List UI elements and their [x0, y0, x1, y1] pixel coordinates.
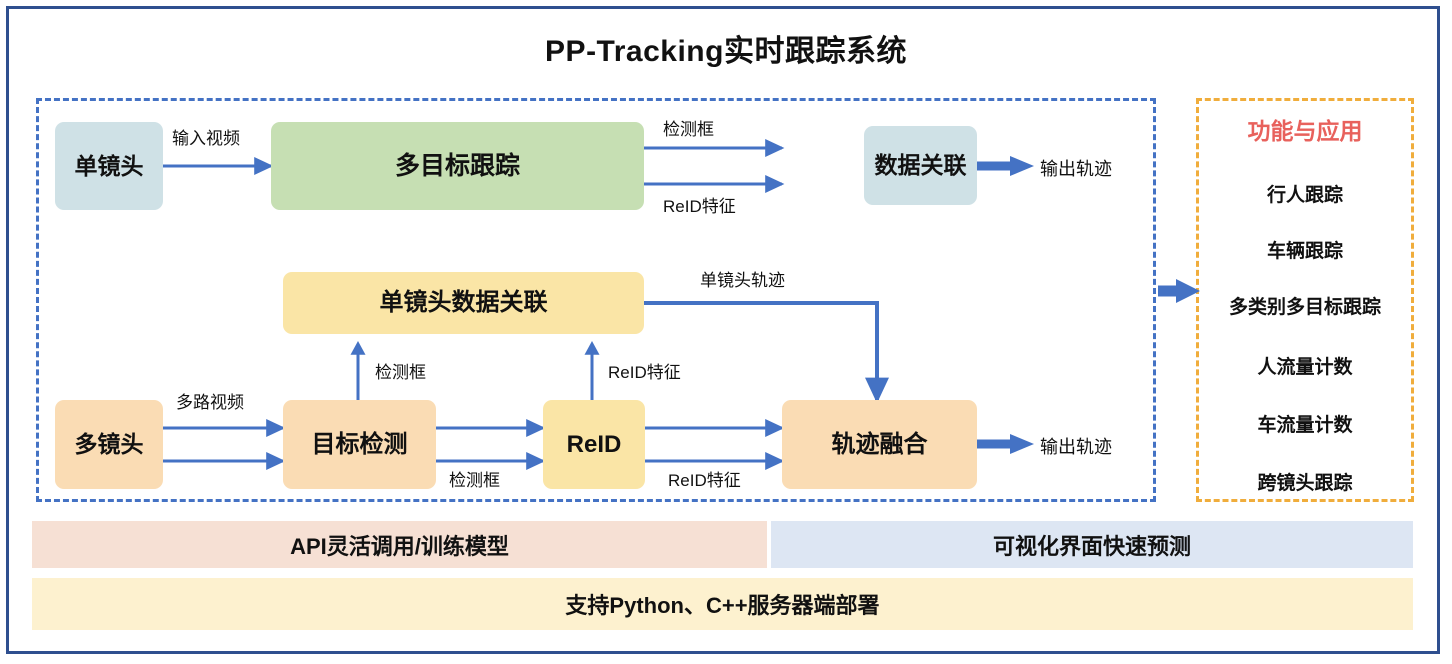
node-object-detection[interactable]: 目标检测 [283, 400, 436, 489]
application-item-1[interactable]: 车辆跟踪 [1196, 236, 1414, 263]
footer-bar-deployment-label: 支持Python、C++服务器端部署 [565, 588, 879, 620]
node-data-association-label: 数据关联 [875, 152, 967, 178]
node-mot-label: 多目标跟踪 [395, 152, 520, 181]
footer-bar-api-label: API灵活调用/训练模型 [290, 529, 509, 561]
node-single-camera-association[interactable]: 单镜头数据关联 [283, 272, 644, 334]
label-detbox-mid: 检测框 [375, 358, 426, 383]
node-mot[interactable]: 多目标跟踪 [271, 122, 644, 210]
node-single-camera-association-label: 单镜头数据关联 [380, 289, 548, 317]
label-reid-top: ReID特征 [663, 192, 736, 217]
node-single-camera[interactable]: 单镜头 [55, 122, 163, 210]
node-reid-label: ReID [567, 431, 622, 459]
footer-bar-visualization[interactable]: 可视化界面快速预测 [771, 521, 1413, 568]
applications-title: 功能与应用 [1196, 112, 1414, 146]
node-multi-camera-label: 多镜头 [75, 431, 144, 457]
diagram-canvas: PP-Tracking实时跟踪系统 [0, 0, 1452, 664]
label-output-track-top: 输出轨迹 [1040, 155, 1112, 181]
footer-bar-api[interactable]: API灵活调用/训练模型 [32, 521, 767, 568]
node-object-detection-label: 目标检测 [312, 431, 408, 459]
label-detbox-bottom: 检测框 [449, 466, 500, 491]
label-reid-bottom: ReID特征 [668, 466, 741, 491]
label-reid-mid: ReID特征 [608, 358, 681, 383]
node-track-fusion-label: 轨迹融合 [832, 431, 928, 459]
label-detbox-top: 检测框 [663, 115, 714, 140]
label-input-video: 输入视频 [172, 124, 240, 149]
application-item-5[interactable]: 跨镜头跟踪 [1196, 468, 1414, 495]
application-item-4[interactable]: 车流量计数 [1196, 410, 1414, 437]
label-multi-video: 多路视频 [176, 388, 244, 413]
node-multi-camera[interactable]: 多镜头 [55, 400, 163, 489]
label-output-track-bottom: 输出轨迹 [1040, 433, 1112, 459]
application-item-2[interactable]: 多类别多目标跟踪 [1196, 292, 1414, 319]
page-title: PP-Tracking实时跟踪系统 [0, 26, 1452, 70]
label-single-camera-track: 单镜头轨迹 [700, 266, 785, 291]
application-item-0[interactable]: 行人跟踪 [1196, 180, 1414, 207]
node-single-camera-label: 单镜头 [75, 153, 144, 179]
node-track-fusion[interactable]: 轨迹融合 [782, 400, 977, 489]
footer-bar-deployment[interactable]: 支持Python、C++服务器端部署 [32, 578, 1413, 630]
node-data-association[interactable]: 数据关联 [864, 126, 977, 205]
footer-bar-visualization-label: 可视化界面快速预测 [993, 529, 1191, 561]
node-reid[interactable]: ReID [543, 400, 645, 489]
application-item-3[interactable]: 人流量计数 [1196, 352, 1414, 379]
